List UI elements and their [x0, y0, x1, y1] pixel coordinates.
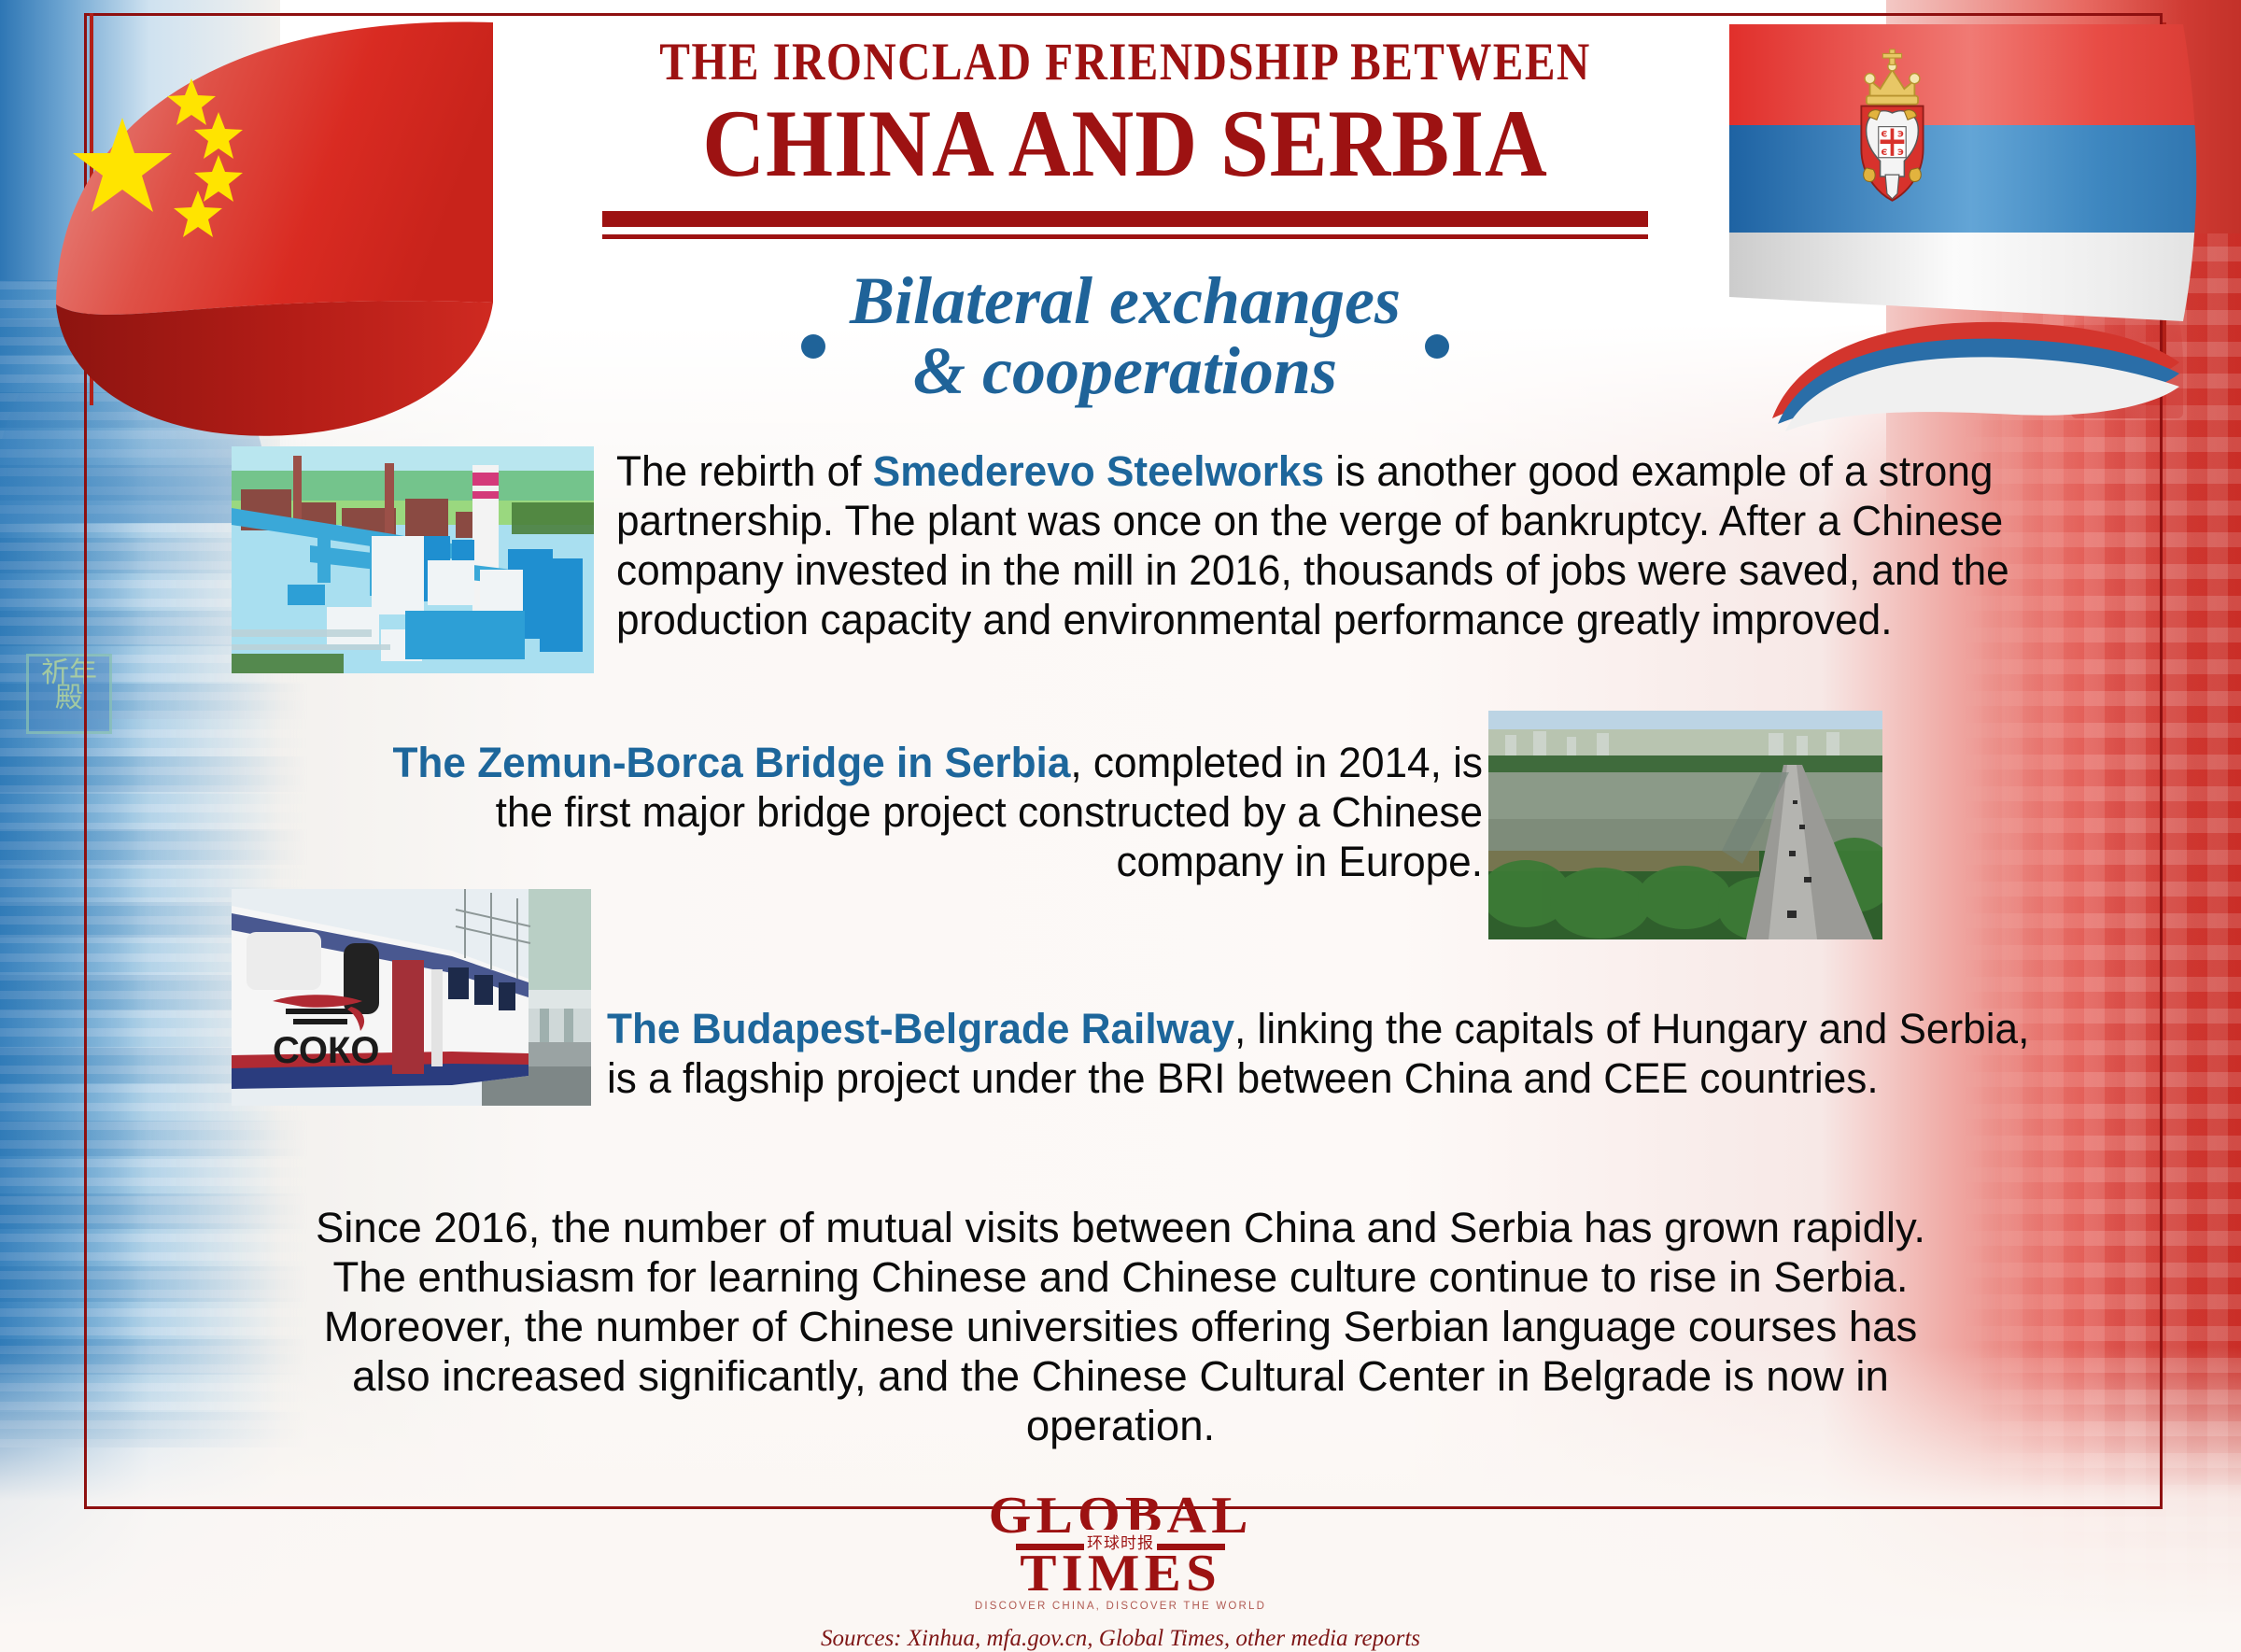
- title-rule-thick: [602, 211, 1648, 227]
- sources-line: Sources: Xinhua, mfa.gov.cn, Global Time…: [0, 1626, 2241, 1652]
- logo-line-times: TIMES: [967, 1550, 1274, 1599]
- soko-train-photo: СОКО: [232, 889, 591, 1106]
- zemun-borca-bridge-photo: [1488, 711, 1882, 939]
- page-title: CHINA AND SERBIA: [634, 93, 1617, 195]
- paragraph-steelworks: The rebirth of Smederevo Steelworks is a…: [616, 446, 2056, 644]
- para-rail-highlight: The Budapest-Belgrade Railway: [607, 1005, 1234, 1052]
- para-steel-highlight: Smederevo Steelworks: [873, 447, 1324, 495]
- global-times-logo: GLOBAL 环球时报 TIMES DISCOVER CHINA, DISCOV…: [975, 1492, 1266, 1612]
- para-steel-before: The rebirth of: [616, 447, 873, 495]
- paragraph-visits: Since 2016, the number of mutual visits …: [280, 1203, 1961, 1450]
- subtitle-text: Bilateral exchanges & cooperations: [850, 266, 1401, 406]
- title-rule-thin: [602, 234, 1648, 239]
- title-block: THE IRONCLAD FRIENDSHIP BETWEEN CHINA AN…: [579, 35, 1671, 239]
- train-livery-label: СОКО: [273, 1030, 380, 1071]
- paragraph-railway: The Budapest-Belgrade Railway, linking t…: [607, 1004, 2056, 1103]
- bullet-dot-left: [801, 334, 825, 359]
- logo-tagline: DISCOVER CHINA, DISCOVER THE WORLD: [975, 1601, 1266, 1612]
- para-bridge-highlight: The Zemun-Borca Bridge in Serbia: [392, 739, 1070, 786]
- footer: GLOBAL 环球时报 TIMES DISCOVER CHINA, DISCOV…: [0, 1492, 2241, 1652]
- bullet-dot-right: [1425, 334, 1449, 359]
- smederevo-steelworks-photo: [232, 446, 594, 673]
- kicker-text: THE IRONCLAD FRIENDSHIP BETWEEN: [655, 35, 1595, 89]
- paragraph-bridge: The Zemun-Borca Bridge in Serbia, comple…: [332, 738, 1483, 886]
- subtitle-row: Bilateral exchanges & cooperations: [579, 266, 1671, 406]
